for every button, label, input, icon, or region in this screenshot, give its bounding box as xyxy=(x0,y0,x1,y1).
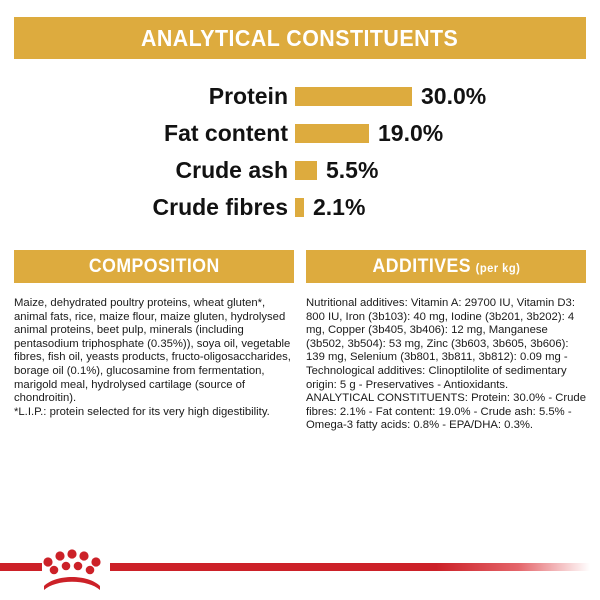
chart-category-label: Crude fibres xyxy=(0,196,295,219)
additives-body: Nutritional additives: Vitamin A: 29700 … xyxy=(306,297,586,433)
composition-text: Maize, dehydrated poultry proteins, whea… xyxy=(14,297,294,406)
chart-bar-group: 30.0% xyxy=(295,85,600,108)
chart-row: Fat content 19.0% xyxy=(0,115,600,152)
composition-body: Maize, dehydrated poultry proteins, whea… xyxy=(14,297,294,419)
chart-row: Crude fibres 2.1% xyxy=(0,189,600,226)
chart-bar-group: 19.0% xyxy=(295,122,600,145)
chart-bar xyxy=(295,198,304,217)
additives-column: ADDITIVES (per kg) Nutritional additives… xyxy=(306,250,586,433)
chart-value-label: 2.1% xyxy=(313,196,365,219)
composition-header: COMPOSITION xyxy=(14,250,294,283)
composition-column: COMPOSITION Maize, dehydrated poultry pr… xyxy=(14,250,294,433)
composition-footnote: *L.I.P.: protein selected for its very h… xyxy=(14,406,294,420)
additives-title-sub: (per kg) xyxy=(475,261,520,275)
composition-title: COMPOSITION xyxy=(89,256,220,278)
additives-text: Nutritional additives: Vitamin A: 29700 … xyxy=(306,297,586,392)
royal-canin-crown-icon xyxy=(40,546,104,590)
chart-bar xyxy=(295,124,369,143)
chart-value-label: 19.0% xyxy=(378,122,443,145)
chart-bar xyxy=(295,87,412,106)
chart-value-label: 5.5% xyxy=(326,159,378,182)
nutrition-panel: ANALYTICAL CONSTITUENTS Protein 30.0% Fa… xyxy=(0,0,600,600)
additives-header: ADDITIVES (per kg) xyxy=(306,250,586,283)
analytical-constituents-header: ANALYTICAL CONSTITUENTS xyxy=(14,17,586,59)
detail-columns: COMPOSITION Maize, dehydrated poultry pr… xyxy=(14,250,586,433)
chart-category-label: Crude ash xyxy=(0,159,295,182)
chart-bar-group: 5.5% xyxy=(295,159,600,182)
additives-title: ADDITIVES xyxy=(372,256,470,278)
chart-category-label: Protein xyxy=(0,85,295,108)
analytical-constituents-title: ANALYTICAL CONSTITUENTS xyxy=(141,25,458,52)
chart-category-label: Fat content xyxy=(0,122,295,145)
additives-constituents-text: ANALYTICAL CONSTITUENTS: Protein: 30.0% … xyxy=(306,392,586,433)
chart-bar xyxy=(295,161,317,180)
brand-footer xyxy=(0,530,600,600)
footer-rule-right xyxy=(110,563,590,571)
additives-title-wrap: ADDITIVES (per kg) xyxy=(372,256,520,278)
footer-rule-left xyxy=(0,563,42,571)
analytical-constituents-chart: Protein 30.0% Fat content 19.0% Crude as… xyxy=(0,78,600,226)
chart-row: Crude ash 5.5% xyxy=(0,152,600,189)
chart-value-label: 30.0% xyxy=(421,85,486,108)
chart-row: Protein 30.0% xyxy=(0,78,600,115)
chart-bar-group: 2.1% xyxy=(295,196,600,219)
